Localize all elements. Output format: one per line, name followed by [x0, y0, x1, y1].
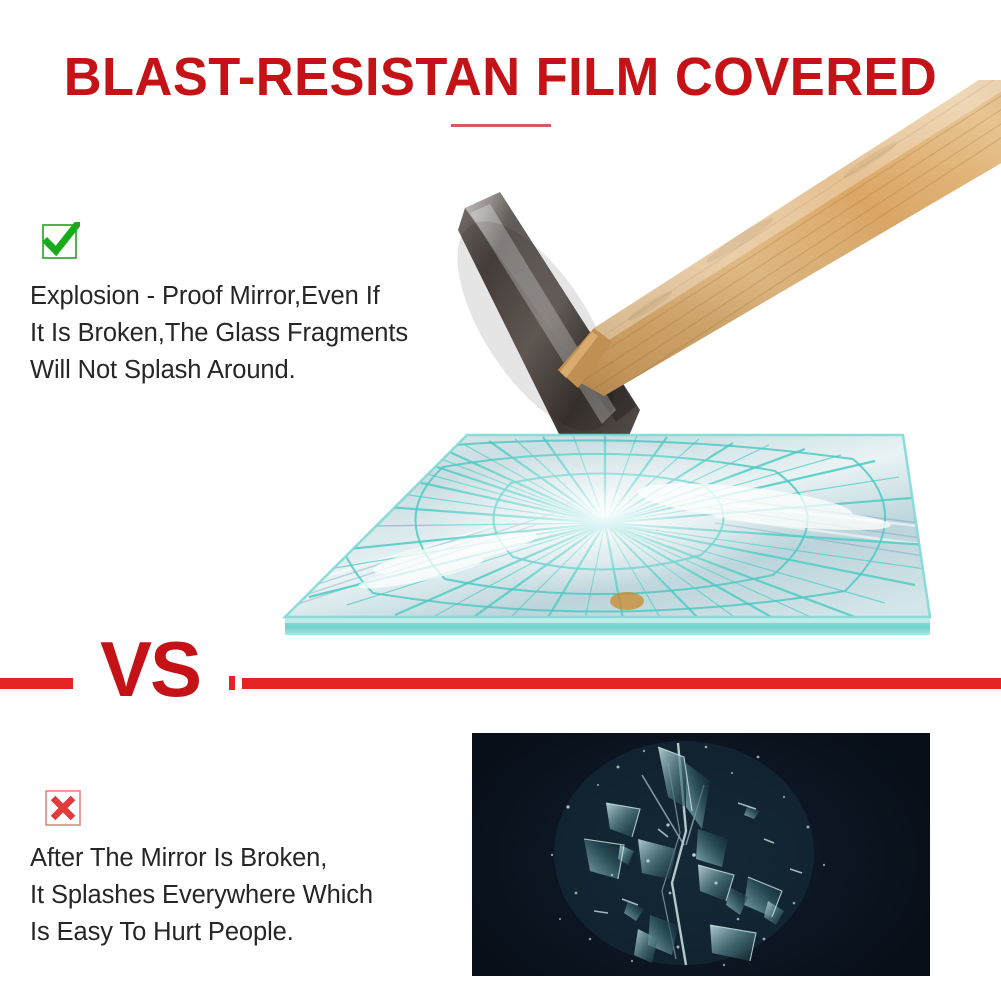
- green-check-icon: [42, 222, 80, 260]
- vs-divider-right-bar: [242, 678, 1001, 689]
- vs-divider-tick: [229, 676, 235, 690]
- hammer-handle-shape: [540, 80, 1001, 440]
- infographic-page: BLAST-RESISTAN FILM COVERED: [0, 0, 1001, 1001]
- red-x-icon: [45, 790, 81, 826]
- vs-divider-left-bar: [0, 678, 73, 689]
- shattered-glass-photo: [472, 733, 930, 976]
- vs-label: VS: [100, 630, 200, 708]
- page-title: BLAST-RESISTAN FILM COVERED: [15, 50, 986, 104]
- hammer-handle-end: [558, 328, 612, 388]
- title-underline-accent: [451, 124, 551, 127]
- cracked-glass-panel-image: [275, 405, 940, 665]
- bad-description-text: After The Mirror Is Broken, It Splashes …: [30, 840, 430, 951]
- good-description-text: Explosion - Proof Mirror,Even If It Is B…: [30, 278, 450, 389]
